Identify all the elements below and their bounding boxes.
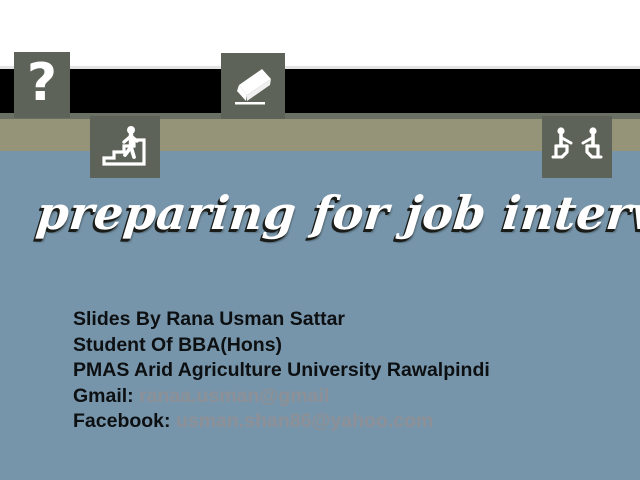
interview-meeting-icon <box>550 125 604 169</box>
stairs-climbing-icon <box>100 123 150 171</box>
credits-line-author: Slides By Rana Usman Sattar <box>73 307 613 333</box>
credits-line-gmail: Gmail: ranaa.usman@gmail <box>73 384 613 410</box>
question-mark-icon: ? <box>27 57 57 109</box>
facebook-value: usman.shan86@yahoo.com <box>176 410 433 432</box>
gmail-value: ranaa.usman@gmail <box>139 385 329 407</box>
credits-line-program: Student Of BBA(Hons) <box>73 333 613 359</box>
background-band-white <box>0 0 640 66</box>
background-band-black <box>0 69 640 113</box>
credits-line-university: PMAS Arid Agriculture University Rawalpi… <box>73 358 613 384</box>
stairs-tile <box>90 116 160 178</box>
gmail-label: Gmail: <box>73 385 134 407</box>
laptop-tile <box>221 53 285 119</box>
slide-title: preparing for job interviews <box>34 186 640 240</box>
laptop-icon <box>230 63 276 109</box>
facebook-label: Facebook: <box>73 410 171 432</box>
credits-line-facebook: Facebook: usman.shan86@yahoo.com <box>73 409 613 435</box>
presentation-slide: ? <box>0 0 640 480</box>
question-mark-tile: ? <box>14 52 70 118</box>
credits-block: Slides By Rana Usman Sattar Student Of B… <box>73 307 613 435</box>
interview-tile <box>542 116 612 178</box>
